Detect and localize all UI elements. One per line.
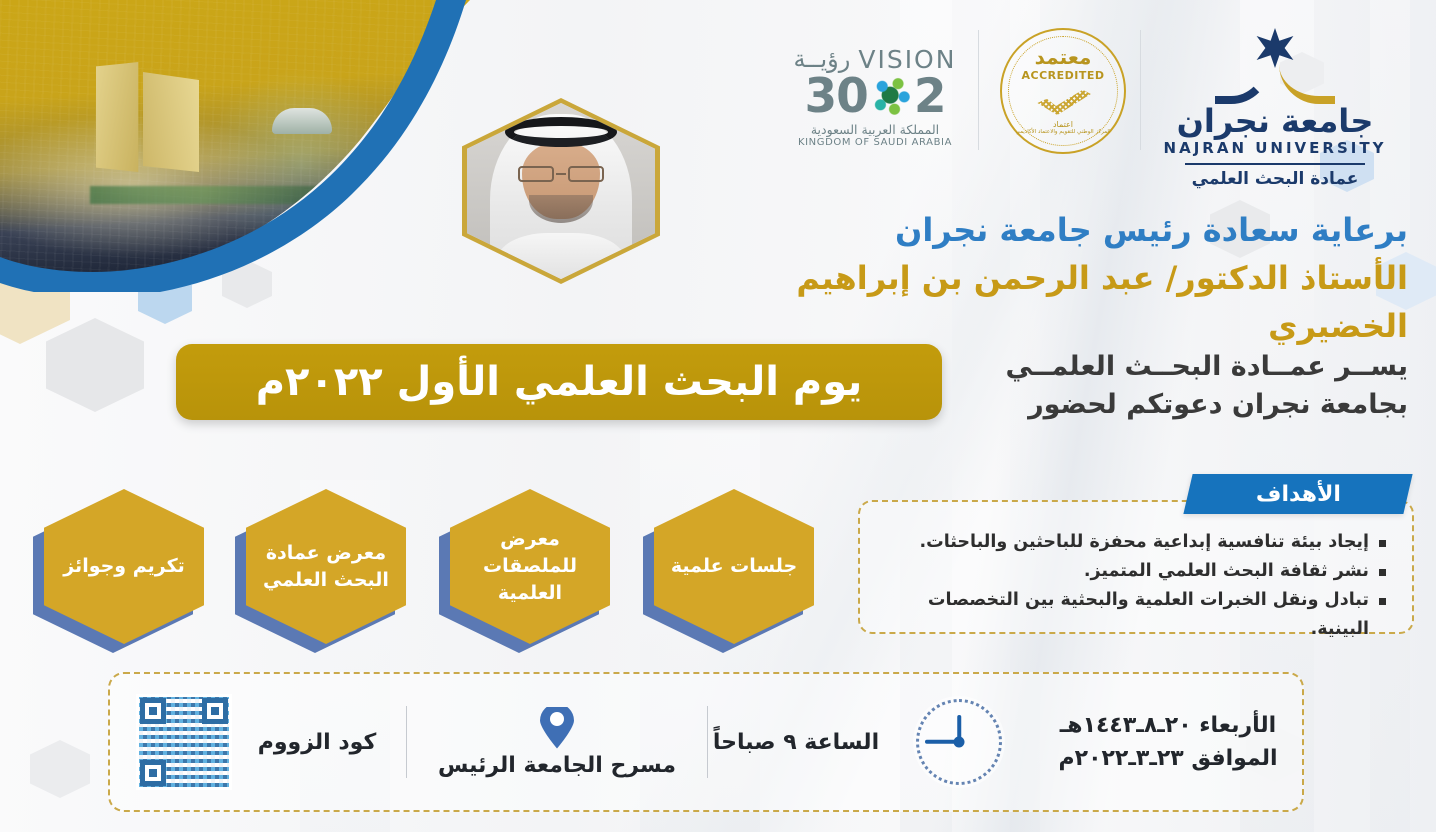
activity-label: معرض عمادة البحث العلمي [246,540,406,594]
open-book-icon [1215,64,1335,106]
objective-item: إيجاد بيئة تنافسية إبداعية محفزة للباحثي… [880,528,1386,557]
najran-university-logo: جامعة نجران NAJRAN UNIVERSITY عمادة البح… [1150,28,1400,189]
decorative-hexagon [222,260,272,308]
decorative-hexagon [138,272,192,324]
kingdom-english: KINGDOM OF SAUDI ARABIA [790,137,960,148]
objectives-box: إيجاد بيئة تنافسية إبداعية محفزة للباحثي… [858,500,1414,634]
invitation-text: يســر عمــادة البحــث العلمــي بجامعة نج… [938,348,1408,425]
vision-number-left: 2 [914,69,946,124]
activity-badge-awards[interactable]: تكريم وجوائز [44,489,204,644]
objective-item: نشر ثقافة البحث العلمي المتميز. [880,557,1386,586]
sponsorship-headline: برعاية سعادة رئيس جامعة نجران الأستاذ ال… [708,206,1408,350]
activity-badge-posters[interactable]: معرض للملصقات العلمية [450,489,610,644]
venue-label: مسرح الجامعة الرئيس [438,753,676,778]
vision-number-right: 30 [804,69,867,124]
logo-divider [978,30,979,150]
seal-english-label: ACCREDITED [1022,69,1105,82]
objectives-tab-label: الأهداف [1256,482,1341,507]
objective-item: تبادل ونقل الخبرات العلمية والبحثية بين … [880,586,1386,644]
zoom-qr-section[interactable]: كود الزووم [106,674,406,810]
logo-row: VISION رؤيــة 2 30 المملكة العربية السعو… [0,0,1436,195]
info-divider [406,706,407,778]
activity-badges: جلسات علمية معرض للملصقات العلمية معرض ع… [44,486,834,651]
date-gregorian: الموافق ٢٣ـ٣ـ٢٠٢٢م [1059,742,1278,775]
event-title: يوم البحث العلمي الأول ٢٠٢٢م [256,359,863,405]
event-title-banner: يوم البحث العلمي الأول ٢٠٢٢م [176,344,942,420]
invite-line-1: يســر عمــادة البحــث العلمــي [938,348,1408,386]
activity-label: تكريم وجوائز [49,553,199,580]
sponsor-line: برعاية سعادة رئيس جامعة نجران [708,206,1408,254]
university-name-arabic: جامعة نجران [1150,104,1400,139]
activity-badge-deanship-expo[interactable]: معرض عمادة البحث العلمي [246,489,406,644]
accreditation-seal: معتمد ACCREDITED اعتماد المركز الوطني لل… [1000,28,1126,154]
info-divider [707,706,708,778]
star-icon [1255,28,1295,68]
event-date: الأربعاء ٢٠ـ٨ـ١٤٤٣هـ الموافق ٢٣ـ٣ـ٢٠٢٢م [1034,674,1302,810]
activity-badge-sessions[interactable]: جلسات علمية [654,489,814,644]
qr-label: كود الزووم [258,730,377,755]
vision-emblem-icon [869,74,913,118]
activity-label: جلسات علمية [657,553,811,580]
objectives-tab: الأهداف [1183,474,1412,514]
vision-2030-logo: VISION رؤيــة 2 30 المملكة العربية السعو… [790,46,960,148]
event-venue: مسرح الجامعة الرئيس [407,674,707,810]
seal-arabic-label: معتمد [1035,47,1092,67]
checkmark-icon [1034,89,1092,119]
invite-line-2: بجامعة نجران دعوتكم لحضور [938,386,1408,424]
sponsor-name: الأستاذ الدكتور/ عبد الرحمن بن إبراهيم ا… [708,254,1408,350]
university-name-english: NAJRAN UNIVERSITY [1150,139,1400,157]
decorative-hexagon [30,740,90,798]
seal-authority: المركز الوطني للتقويم والاعتماد الأكاديم… [1016,129,1111,136]
deanship-label: عمادة البحث العلمي [1150,169,1400,189]
logo-rule [1185,163,1365,165]
location-pin-icon [540,707,574,751]
poster-canvas: VISION رؤيــة 2 30 المملكة العربية السعو… [0,0,1436,832]
decorative-hexagon [46,318,144,412]
activity-label: معرض للملصقات العلمية [450,526,610,607]
date-hijri: الأربعاء ٢٠ـ٨ـ١٤٤٣هـ [1059,709,1278,742]
qr-code-icon[interactable] [136,694,232,790]
event-info-bar: الأربعاء ٢٠ـ٨ـ١٤٤٣هـ الموافق ٢٣ـ٣ـ٢٠٢٢م … [108,672,1304,812]
objectives-list: إيجاد بيئة تنافسية إبداعية محفزة للباحثي… [880,528,1386,644]
clock-icon [884,674,1034,810]
kingdom-arabic: المملكة العربية السعودية [790,122,960,137]
event-time: الساعة ٩ صباحاً [708,674,884,810]
logo-divider [1140,30,1141,150]
seal-sub-arabic: اعتماد [1053,120,1073,129]
